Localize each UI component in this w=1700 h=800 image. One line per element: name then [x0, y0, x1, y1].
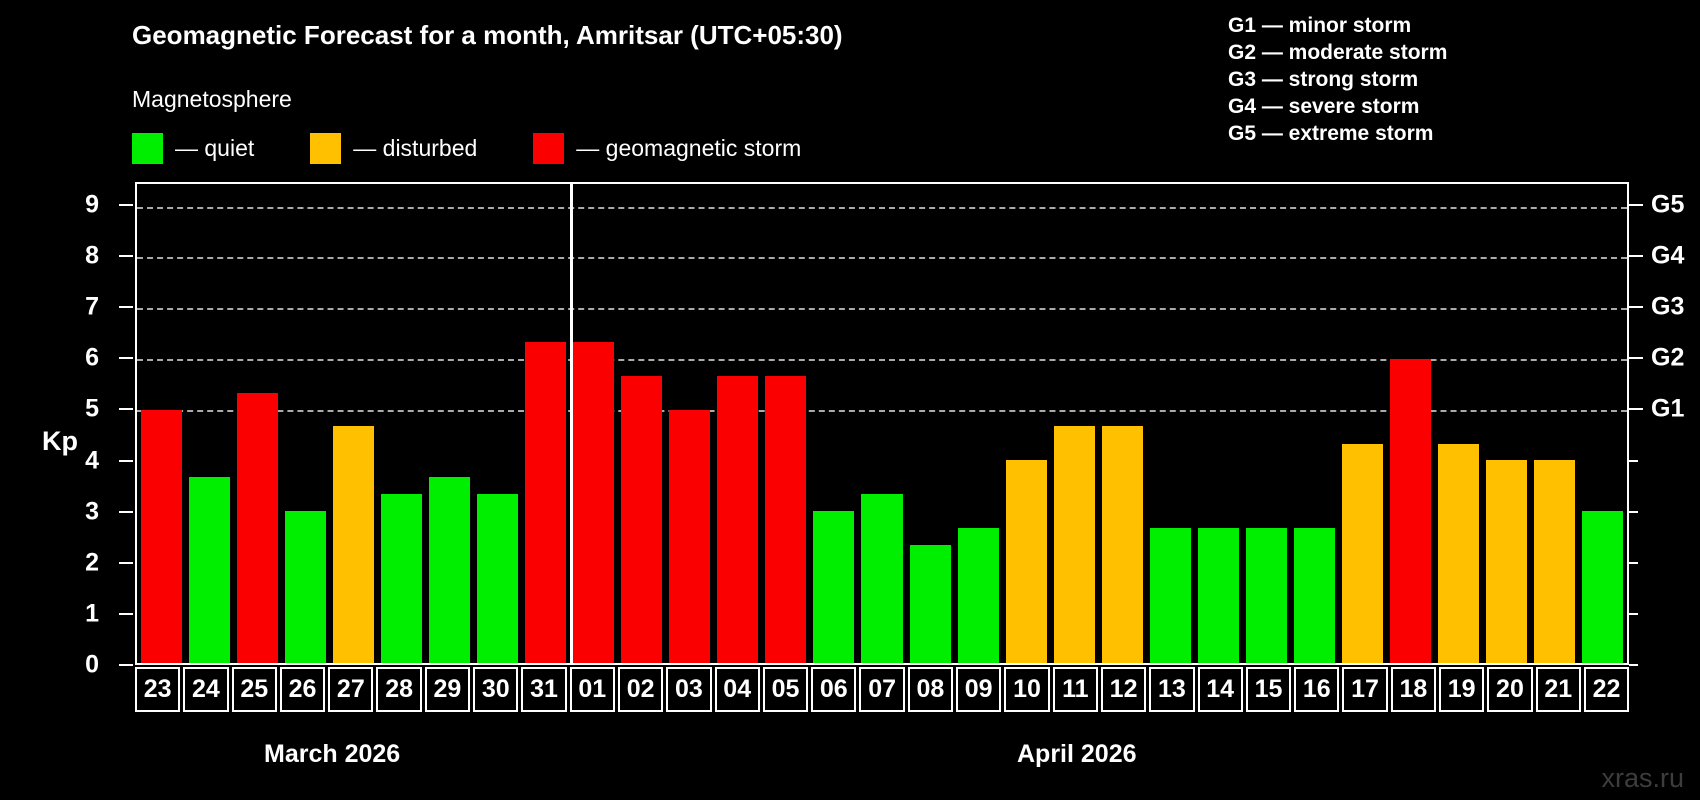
bar[interactable]: [381, 494, 422, 663]
bar[interactable]: [189, 477, 230, 663]
date-label-01[interactable]: 01: [570, 667, 615, 712]
legend-swatch-quiet-icon: [132, 133, 163, 164]
magnetosphere-legend: — quiet — disturbed — geomagnetic storm: [132, 133, 801, 164]
date-label-29[interactable]: 29: [425, 667, 470, 712]
y-tick-label-8: 8: [85, 242, 99, 271]
date-label-03[interactable]: 03: [666, 667, 711, 712]
g-tick-label-g1: G1: [1651, 395, 1684, 424]
bar[interactable]: [1294, 528, 1335, 663]
bar[interactable]: [765, 376, 806, 663]
bar[interactable]: [910, 545, 951, 663]
bar-cell[interactable]: [1579, 184, 1627, 663]
y-tick-label-7: 7: [85, 293, 99, 322]
month-caption-march: March 2026: [264, 740, 400, 769]
y-tick-label-3: 3: [85, 497, 99, 526]
y-tick-8: [119, 255, 133, 257]
date-label-13[interactable]: 13: [1149, 667, 1194, 712]
bar-cell[interactable]: [1531, 184, 1579, 663]
date-label-06[interactable]: 06: [811, 667, 856, 712]
bar[interactable]: [1150, 528, 1191, 663]
bar-cell[interactable]: [1435, 184, 1483, 663]
bar[interactable]: [141, 410, 182, 663]
g-axis-tick-0: [1629, 664, 1638, 666]
bar[interactable]: [958, 528, 999, 663]
g-axis: G1G2G3G4G5: [1629, 182, 1700, 665]
bar[interactable]: [1102, 426, 1143, 663]
date-label-28[interactable]: 28: [376, 667, 421, 712]
g-scale-row-g2: G2 — moderate storm: [1228, 39, 1447, 66]
g-axis-tick-7: [1629, 306, 1643, 308]
g-axis-tick-5: [1629, 408, 1643, 410]
legend-item-disturbed: — disturbed: [310, 133, 477, 164]
g-tick-label-g5: G5: [1651, 191, 1684, 220]
legend-swatch-storm-icon: [533, 133, 564, 164]
y-tick-5: [119, 408, 133, 410]
bar-cell[interactable]: [1291, 184, 1339, 663]
date-label-20[interactable]: 20: [1487, 667, 1532, 712]
bar[interactable]: [1438, 444, 1479, 663]
date-label-14[interactable]: 14: [1198, 667, 1243, 712]
bar[interactable]: [1342, 444, 1383, 663]
bar-cell[interactable]: [329, 184, 377, 663]
bar[interactable]: [525, 342, 566, 663]
date-label-27[interactable]: 27: [328, 667, 373, 712]
date-label-22[interactable]: 22: [1584, 667, 1629, 712]
bar[interactable]: [285, 511, 326, 663]
y-axis: 0123456789: [0, 182, 135, 665]
y-tick-3: [119, 511, 133, 513]
g-axis-tick-3: [1629, 511, 1638, 513]
y-tick-label-9: 9: [85, 191, 99, 220]
bar-cell[interactable]: [522, 184, 570, 663]
bar[interactable]: [861, 494, 902, 663]
bar[interactable]: [1534, 460, 1575, 663]
g-scale-legend: G1 — minor storm G2 — moderate storm G3 …: [1228, 12, 1447, 147]
bar-cell[interactable]: [1483, 184, 1531, 663]
date-label-30[interactable]: 30: [473, 667, 518, 712]
g-tick-label-g4: G4: [1651, 242, 1684, 271]
date-label-19[interactable]: 19: [1439, 667, 1484, 712]
g-axis-tick-4: [1629, 460, 1638, 462]
date-label-18[interactable]: 18: [1391, 667, 1436, 712]
date-label-23[interactable]: 23: [135, 667, 180, 712]
y-tick-label-4: 4: [85, 446, 99, 475]
y-tick-label-0: 0: [85, 651, 99, 680]
bar[interactable]: [1246, 528, 1287, 663]
bar[interactable]: [621, 376, 662, 663]
bar[interactable]: [1390, 359, 1431, 663]
bar-cell[interactable]: [1242, 184, 1290, 663]
y-tick-6: [119, 357, 133, 359]
date-label-24[interactable]: 24: [183, 667, 228, 712]
date-label-31[interactable]: 31: [521, 667, 566, 712]
legend-label-quiet: — quiet: [175, 135, 254, 162]
g-axis-tick-1: [1629, 613, 1638, 615]
y-tick-4: [119, 460, 133, 462]
y-tick-7: [119, 306, 133, 308]
date-label-04[interactable]: 04: [715, 667, 760, 712]
bar-cell[interactable]: [233, 184, 281, 663]
bar-cell[interactable]: [473, 184, 521, 663]
g-tick-label-g2: G2: [1651, 344, 1684, 373]
bar-cell[interactable]: [666, 184, 714, 663]
legend-swatch-disturbed-icon: [310, 133, 341, 164]
bar-cell[interactable]: [425, 184, 473, 663]
date-label-07[interactable]: 07: [859, 667, 904, 712]
bar[interactable]: [1006, 460, 1047, 663]
date-label-15[interactable]: 15: [1246, 667, 1291, 712]
bar-cell[interactable]: [906, 184, 954, 663]
legend-label-disturbed: — disturbed: [353, 135, 477, 162]
date-label-21[interactable]: 21: [1536, 667, 1581, 712]
g-scale-row-g3: G3 — strong storm: [1228, 66, 1447, 93]
y-tick-label-2: 2: [85, 548, 99, 577]
g-axis-tick-2: [1629, 562, 1638, 564]
y-tick-0: [119, 664, 133, 666]
bar[interactable]: [717, 376, 758, 663]
page-title: Geomagnetic Forecast for a month, Amrits…: [132, 20, 843, 51]
y-axis-title: Kp: [42, 426, 78, 457]
plot-area: [135, 182, 1629, 665]
bar-cell[interactable]: [762, 184, 810, 663]
date-label-12[interactable]: 12: [1101, 667, 1146, 712]
bar-cell[interactable]: [1339, 184, 1387, 663]
bar-cell[interactable]: [618, 184, 666, 663]
month-separator: [570, 184, 573, 663]
y-tick-9: [119, 204, 133, 206]
bar[interactable]: [1054, 426, 1095, 663]
bar[interactable]: [333, 426, 374, 663]
date-label-02[interactable]: 02: [618, 667, 663, 712]
geomagnetic-forecast-chart: Geomagnetic Forecast for a month, Amrits…: [0, 0, 1700, 800]
y-tick-label-1: 1: [85, 599, 99, 628]
g-scale-row-g1: G1 — minor storm: [1228, 12, 1447, 39]
date-label-11[interactable]: 11: [1053, 667, 1098, 712]
y-tick-2: [119, 562, 133, 564]
legend-label-storm: — geomagnetic storm: [576, 135, 801, 162]
bar[interactable]: [669, 410, 710, 663]
bar-cell[interactable]: [1098, 184, 1146, 663]
bar-cell[interactable]: [137, 184, 185, 663]
date-label-16[interactable]: 16: [1294, 667, 1339, 712]
bar-cell[interactable]: [570, 184, 618, 663]
bar-cell[interactable]: [377, 184, 425, 663]
g-axis-tick-8: [1629, 255, 1643, 257]
bar[interactable]: [1198, 528, 1239, 663]
legend-item-storm: — geomagnetic storm: [533, 133, 801, 164]
watermark: xras.ru: [1601, 763, 1684, 794]
bar-series: [137, 184, 1627, 663]
g-axis-tick-6: [1629, 357, 1643, 359]
bar[interactable]: [237, 393, 278, 663]
date-label-05[interactable]: 05: [763, 667, 808, 712]
bar-cell[interactable]: [281, 184, 329, 663]
bar[interactable]: [1582, 511, 1623, 663]
bar-cell[interactable]: [1194, 184, 1242, 663]
legend-item-quiet: — quiet: [132, 133, 254, 164]
y-tick-label-6: 6: [85, 344, 99, 373]
date-label-08[interactable]: 08: [908, 667, 953, 712]
month-caption-april: April 2026: [1017, 740, 1137, 769]
g-tick-label-g3: G3: [1651, 293, 1684, 322]
date-label-26[interactable]: 26: [280, 667, 325, 712]
date-axis: 2324252627282930310102030405060708091011…: [135, 667, 1629, 712]
bar[interactable]: [477, 494, 518, 663]
bar-cell[interactable]: [185, 184, 233, 663]
bar-cell[interactable]: [1002, 184, 1050, 663]
bar-cell[interactable]: [810, 184, 858, 663]
y-tick-label-5: 5: [85, 395, 99, 424]
bar-cell[interactable]: [1050, 184, 1098, 663]
y-tick-1: [119, 613, 133, 615]
bar[interactable]: [1486, 460, 1527, 663]
bar-cell[interactable]: [954, 184, 1002, 663]
date-label-17[interactable]: 17: [1342, 667, 1387, 712]
date-label-10[interactable]: 10: [1004, 667, 1049, 712]
bar[interactable]: [813, 511, 854, 663]
date-label-09[interactable]: 09: [956, 667, 1001, 712]
bar-cell[interactable]: [714, 184, 762, 663]
g-scale-row-g5: G5 — extreme storm: [1228, 120, 1447, 147]
date-label-25[interactable]: 25: [232, 667, 277, 712]
bar[interactable]: [573, 342, 614, 663]
g-scale-row-g4: G4 — severe storm: [1228, 93, 1447, 120]
bar[interactable]: [429, 477, 470, 663]
magnetosphere-label: Magnetosphere: [132, 86, 292, 113]
bar-cell[interactable]: [858, 184, 906, 663]
bar-cell[interactable]: [1387, 184, 1435, 663]
g-axis-tick-9: [1629, 204, 1643, 206]
bar-cell[interactable]: [1146, 184, 1194, 663]
